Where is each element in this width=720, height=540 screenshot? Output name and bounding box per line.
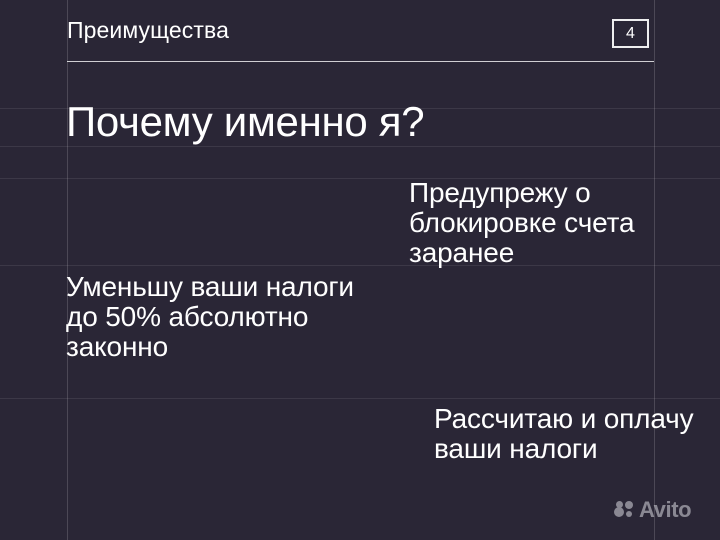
grid-line-horizontal: [0, 146, 720, 147]
avito-watermark-label: Avito: [639, 499, 691, 521]
page-number-value: 4: [626, 26, 635, 42]
avito-dots-icon: [614, 500, 635, 520]
benefit-item: Рассчитаю и оплачу ваши налоги: [434, 404, 720, 464]
benefit-item: Уменьшу ваши налоги до 50% абсолютно зак…: [66, 272, 386, 362]
grid-line-horizontal: [0, 398, 720, 399]
header-title: Преимущества: [67, 19, 229, 42]
grid-line-vertical: [67, 0, 68, 540]
page-number-badge: 4: [612, 19, 649, 48]
avito-watermark: Avito: [614, 499, 691, 521]
slide-header: Преимущества 4: [67, 0, 720, 62]
page-title: Почему именно я?: [66, 99, 424, 144]
benefit-item: Предупрежу о блокировке счета заранее: [409, 178, 709, 268]
header-divider: [67, 61, 654, 62]
slide-canvas: Преимущества 4 Почему именно я? Предупре…: [0, 0, 720, 540]
